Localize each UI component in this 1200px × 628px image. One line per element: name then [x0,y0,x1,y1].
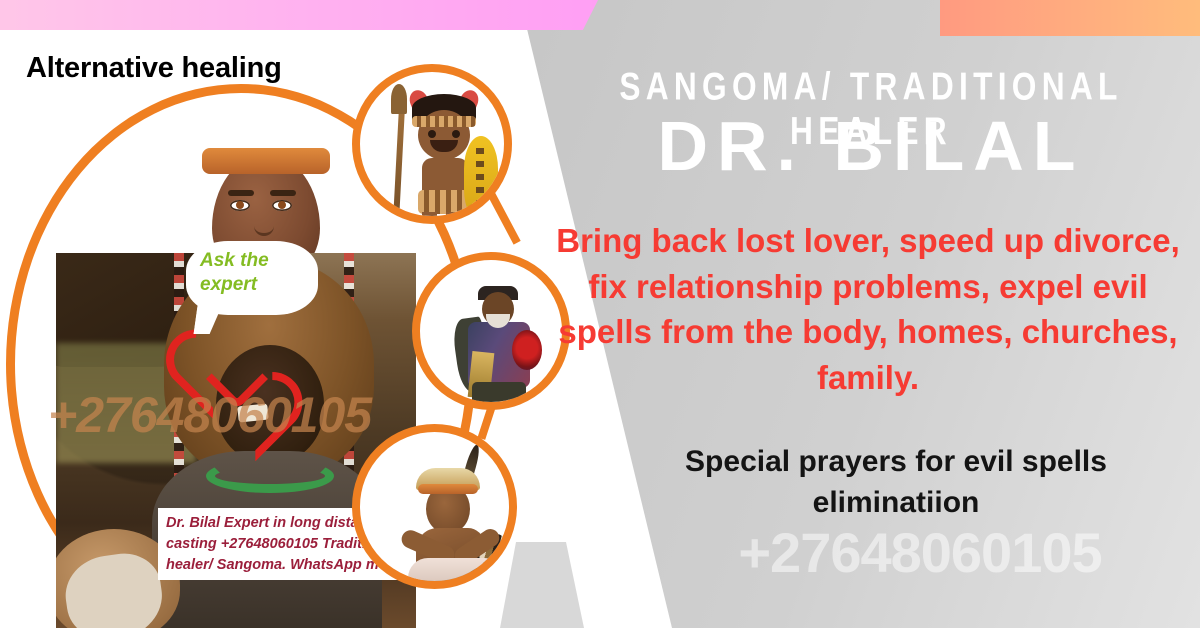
page-title: Alternative healing [26,52,282,85]
circle-thumb-crouching-sangoma [352,424,517,589]
services-text: Bring back lost lover, speed up divorce,… [548,218,1188,400]
top-pink-bar [0,0,598,30]
circle-thumb-robed-figure [412,252,570,410]
brand-name: DR. BILAL [568,110,1174,184]
poster-canvas: Alternative healing [0,0,1200,628]
top-orange-bar [940,0,1200,36]
circle-thumb-zulu-warrior [352,64,512,224]
photo-phone-overlay: +27648060105 [48,386,371,444]
phone-watermark: +27648060105 [640,520,1200,585]
prayers-text: Special prayers for evil spells eliminat… [600,442,1192,523]
speech-bubble-text: Ask the expert [200,249,310,297]
